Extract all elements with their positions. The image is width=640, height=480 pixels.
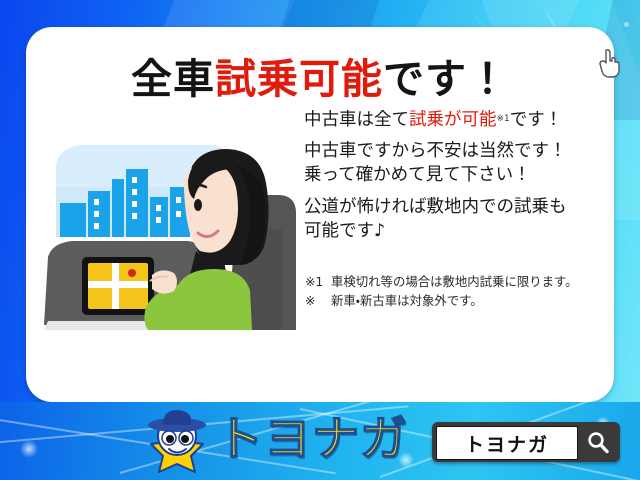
footnote-mark: ※1 — [305, 272, 331, 291]
mascot-svg — [141, 408, 213, 478]
copy-p1-lead: 中古車は全て — [304, 110, 409, 130]
body-copy: 中古車は全て試乗が可能※1です！ 中古車ですから不安は当然です！ 乗って確かめて… — [304, 111, 609, 253]
copy-line: 中古車は全て試乗が可能※1です！ — [304, 111, 609, 129]
promo-banner: 全車試乗可能です！ — [0, 0, 640, 480]
driver-eye — [194, 199, 202, 211]
search-icon — [586, 430, 610, 454]
driving-illustration-svg — [38, 125, 300, 330]
copy-paragraph-1: 中古車は全て試乗が可能※1です！ — [304, 111, 609, 129]
background-dot — [624, 22, 629, 27]
navigation-marker — [128, 269, 136, 277]
search-widget[interactable]: トヨナガ — [432, 422, 620, 462]
toyonaga-mascot — [141, 408, 213, 478]
search-button[interactable] — [580, 426, 616, 458]
page-title: 全車試乗可能です！ — [26, 45, 614, 105]
headline-part-1: 全車 — [131, 55, 215, 103]
driver-hand — [152, 270, 177, 293]
brand-bar-glow — [20, 440, 38, 458]
footnote-text: 車検切れ等の場合は敷地内試乗に限ります。 — [331, 274, 578, 289]
pointer-hand-icon — [598, 48, 624, 78]
mascot-hat-crown — [163, 410, 191, 425]
footnote-text: 新車・新古車は対象外です。 — [331, 293, 483, 308]
pointer-hand-shape — [600, 50, 619, 77]
headline-part-2-red: 試乗可能 — [215, 55, 383, 103]
mascot-pupil-right — [181, 435, 189, 443]
mascot-pupil-left — [166, 435, 174, 443]
copy-p1-red: 試乗が可能 — [409, 110, 497, 130]
copy-line: 中古車ですから不安は当然です！ — [304, 142, 609, 160]
brand-wordmark: トヨナガ — [216, 416, 408, 463]
headline-part-3: です！ — [383, 55, 509, 103]
search-input[interactable]: トヨナガ — [436, 426, 578, 460]
content-card: 全車試乗可能です！ — [26, 27, 614, 402]
pointer-hand-svg — [598, 48, 624, 78]
footnote-mark: ※ — [305, 291, 331, 310]
driving-illustration — [38, 125, 300, 330]
copy-line: 公道が怖ければ敷地内での試乗も — [304, 198, 609, 216]
footnotes: ※1車検切れ等の場合は敷地内試乗に限ります。 ※新車・新古車は対象外です。 — [305, 272, 578, 310]
copy-line: 乗って確かめて見て下さい！ — [304, 166, 609, 184]
footnote-row: ※1車検切れ等の場合は敷地内試乗に限ります。 — [305, 272, 578, 291]
copy-p1-tail: です！ — [510, 110, 563, 130]
footnote-marker: ※1 — [497, 114, 510, 124]
copy-paragraph-2: 中古車ですから不安は当然です！ 乗って確かめて見て下さい！ — [304, 142, 609, 184]
copy-line: 可能です♪ — [304, 222, 609, 240]
brand-bar: トヨナガ トヨナガ — [0, 402, 640, 480]
footnote-row: ※新車・新古車は対象外です。 — [305, 291, 578, 310]
copy-paragraph-3: 公道が怖ければ敷地内での試乗も 可能です♪ — [304, 198, 609, 240]
